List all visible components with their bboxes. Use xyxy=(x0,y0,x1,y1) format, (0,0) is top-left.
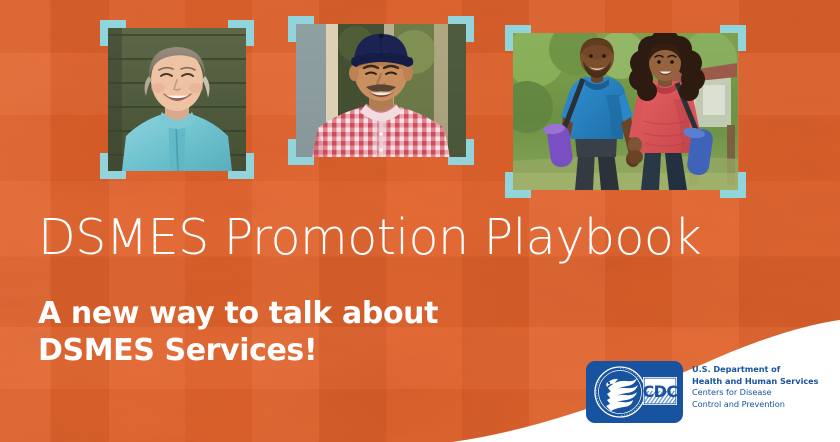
poster-canvas: DSMES Promotion Playbook A new way to ta… xyxy=(0,0,840,442)
agency-name-block: U.S. Department of Health and Human Serv… xyxy=(692,361,818,411)
subtitle-line-2: DSMES Services! xyxy=(38,333,438,370)
agency-line-1: U.S. Department of xyxy=(692,364,818,376)
hhs-seal-and-cdc-mark: CDC xyxy=(586,361,683,423)
cdc-mark-text: CDC xyxy=(643,382,678,401)
agency-line-4: Control and Prevention xyxy=(692,399,818,411)
agency-line-2: Health and Human Services xyxy=(692,376,818,388)
cdc-logo-lockup: CDC U.S. Department of Health and Human … xyxy=(586,361,818,423)
agency-line-3: Centers for Disease xyxy=(692,387,818,399)
page-title: DSMES Promotion Playbook xyxy=(38,213,701,262)
subtitle-line-1: A new way to talk about xyxy=(38,296,438,333)
page-subtitle: A new way to talk about DSMES Services! xyxy=(38,296,438,370)
